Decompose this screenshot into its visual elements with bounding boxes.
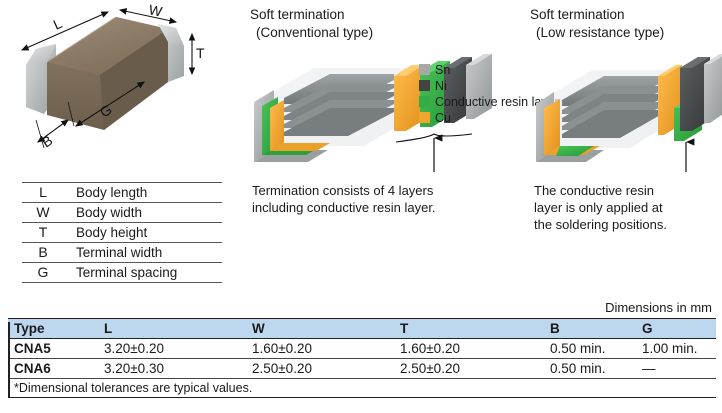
datasheet-page: L W T B G L Body length bbox=[0, 0, 722, 413]
dimensions-table: Type L W T B G CNA5 3.20±0.20 1.60±0.20 … bbox=[8, 318, 716, 398]
lowres-caption-line2: layer is only applied at bbox=[534, 199, 667, 216]
legend-desc-G: Terminal spacing bbox=[64, 263, 222, 283]
legend-symbol-W: W bbox=[22, 203, 64, 223]
ni-swatch-icon bbox=[419, 80, 430, 91]
lowres-title-line2: (Low resistance type) bbox=[530, 24, 664, 42]
legend-row-W: W Body width bbox=[22, 203, 222, 223]
legend-desc-W: Body width bbox=[64, 203, 222, 223]
legend-item-ni: Ni bbox=[419, 78, 539, 93]
row-cna6-w: 2.50±0.20 bbox=[246, 359, 394, 379]
row-cna6-t: 2.50±0.20 bbox=[394, 359, 544, 379]
right-termination-layers-lowres bbox=[658, 54, 722, 141]
legend-label-ni: Ni bbox=[435, 79, 447, 93]
legend-item-resin: Conductive resin layer bbox=[419, 94, 539, 109]
lowres-caption-line3: the soldering positions. bbox=[534, 216, 667, 233]
sn-swatch-icon bbox=[419, 64, 430, 75]
row-cna5-b: 0.50 min. bbox=[544, 339, 636, 359]
legend-desc-T: Body height bbox=[64, 223, 222, 243]
header-t: T bbox=[394, 319, 544, 339]
legend-item-sn: Sn bbox=[419, 62, 539, 77]
chip-label-W: W bbox=[147, 2, 164, 20]
chip-label-T: T bbox=[196, 45, 205, 61]
material-legend: Sn Ni Conductive resin layer Cu bbox=[419, 62, 539, 126]
row-cna6-g: — bbox=[636, 359, 716, 379]
chip-label-L: L bbox=[51, 15, 65, 33]
lowres-termination-drawing bbox=[530, 46, 722, 176]
legend-row-G: G Terminal spacing bbox=[22, 263, 222, 283]
cu-swatch-icon bbox=[419, 112, 430, 123]
legend-symbol-L: L bbox=[22, 183, 64, 203]
conventional-caption-line1: Termination consists of 4 layers bbox=[252, 182, 436, 199]
legend-row-L: L Body length bbox=[22, 183, 222, 203]
lowres-title-line1: Soft termination bbox=[530, 6, 664, 24]
dimensions-header-row: Type L W T B G bbox=[8, 319, 716, 339]
row-cna5-t: 1.60±0.20 bbox=[394, 339, 544, 359]
row-cna5-type: CNA5 bbox=[8, 339, 98, 359]
legend-label-cu: Cu bbox=[435, 111, 451, 125]
legend-desc-L: Body length bbox=[64, 183, 222, 203]
legend-row-T: T Body height bbox=[22, 223, 222, 243]
row-cna5-w: 1.60±0.20 bbox=[246, 339, 394, 359]
legend-symbol-T: T bbox=[22, 223, 64, 243]
dimension-legend-table: L Body length W Body width T Body height… bbox=[22, 182, 222, 283]
table-row: CNA6 3.20±0.30 2.50±0.20 2.50±0.20 0.50 … bbox=[8, 359, 716, 379]
chip-label-B: B bbox=[39, 132, 56, 150]
row-cna6-type: CNA6 bbox=[8, 359, 98, 379]
row-cna6-l: 3.20±0.30 bbox=[98, 359, 246, 379]
dimensions-unit-caption: Dimensions in mm bbox=[8, 300, 716, 318]
dimensions-footnote: *Dimensional tolerances are typical valu… bbox=[8, 379, 716, 398]
table-row: CNA5 3.20±0.20 1.60±0.20 1.60±0.20 0.50 … bbox=[8, 339, 716, 359]
legend-item-cu: Cu bbox=[419, 110, 539, 125]
conventional-title-line1: Soft termination bbox=[250, 6, 373, 24]
chip-illustration-panel: L W T B G L Body length bbox=[0, 0, 240, 300]
soft-termination-conventional-panel: Soft termination (Conventional type) bbox=[246, 0, 492, 300]
legend-symbol-B: B bbox=[22, 243, 64, 263]
header-w: W bbox=[246, 319, 394, 339]
lowres-title: Soft termination (Low resistance type) bbox=[530, 6, 664, 42]
lowres-caption-line1: The conductive resin bbox=[534, 182, 667, 199]
legend-label-sn: Sn bbox=[435, 63, 450, 77]
header-type: Type bbox=[8, 319, 98, 339]
header-l: L bbox=[98, 319, 246, 339]
header-g: G bbox=[636, 319, 716, 339]
dimensions-section: Dimensions in mm Type L W T B G CNA5 bbox=[8, 300, 716, 398]
conventional-title-line2: (Conventional type) bbox=[250, 24, 373, 42]
soft-termination-lowres-panel: Soft termination (Low resistance type) bbox=[524, 0, 722, 300]
dimensions-footnote-row: *Dimensional tolerances are typical valu… bbox=[8, 379, 716, 398]
legend-desc-B: Terminal width bbox=[64, 243, 222, 263]
legend-symbol-G: G bbox=[22, 263, 64, 283]
header-b: B bbox=[544, 319, 636, 339]
resin-swatch-icon bbox=[419, 96, 430, 107]
conventional-caption-line2: including conductive resin layer. bbox=[252, 199, 436, 216]
row-cna5-g: 1.00 min. bbox=[636, 339, 716, 359]
chip-dimension-drawing: L W T B G bbox=[8, 2, 234, 182]
conventional-title: Soft termination (Conventional type) bbox=[250, 6, 373, 42]
lowres-caption: The conductive resin layer is only appli… bbox=[534, 182, 667, 233]
row-cna6-b: 0.50 min. bbox=[544, 359, 636, 379]
legend-row-B: B Terminal width bbox=[22, 243, 222, 263]
row-cna5-l: 3.20±0.20 bbox=[98, 339, 246, 359]
conventional-caption: Termination consists of 4 layers includi… bbox=[252, 182, 436, 216]
